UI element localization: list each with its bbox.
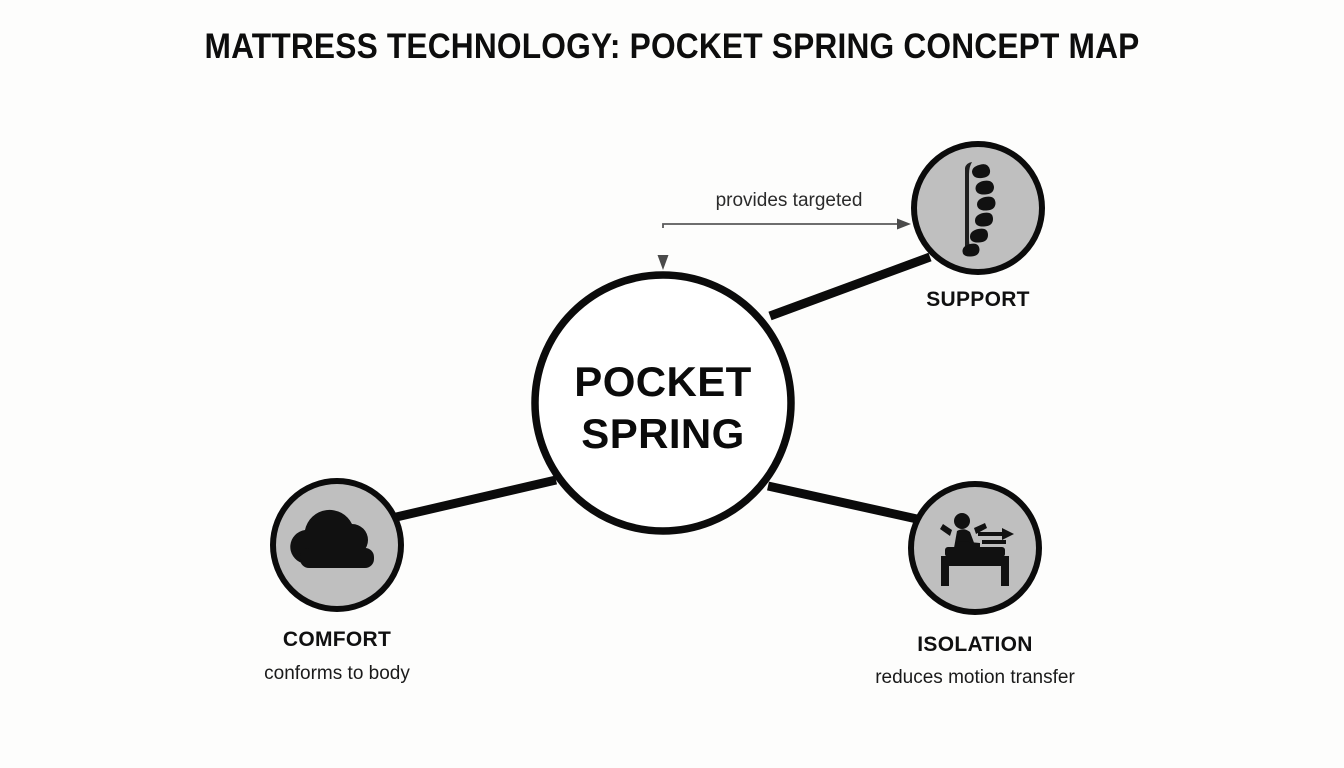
isolation-label: ISOLATION bbox=[917, 633, 1032, 656]
hub-label-line2: SPRING bbox=[581, 410, 744, 457]
edge-annotation-label: provides targeted bbox=[716, 190, 863, 211]
comfort-sublabel: conforms to body bbox=[264, 663, 410, 684]
support-label: SUPPORT bbox=[926, 288, 1030, 311]
hub-label-line1: POCKET bbox=[574, 358, 751, 405]
concept-map-diagram: MATTRESS TECHNOLOGY: POCKET SPRING CONCE… bbox=[0, 0, 1344, 768]
isolation-sublabel: reduces motion transfer bbox=[875, 667, 1075, 688]
concept-map-canvas: MATTRESS TECHNOLOGY: POCKET SPRING CONCE… bbox=[0, 0, 1344, 768]
hub-group[interactable]: POCKET SPRING bbox=[535, 275, 791, 531]
comfort-label: COMFORT bbox=[283, 628, 391, 651]
page-title: MATTRESS TECHNOLOGY: POCKET SPRING CONCE… bbox=[205, 27, 1140, 66]
